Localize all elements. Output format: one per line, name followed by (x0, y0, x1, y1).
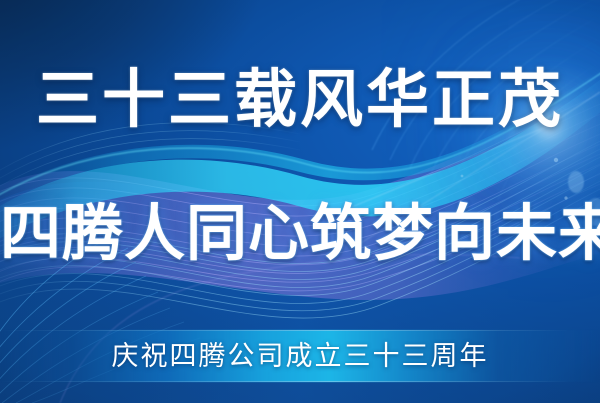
poster-canvas: 三十三载风华正茂 四腾人同心筑梦向未来 庆祝四腾公司成立三十三周年 (0, 0, 600, 403)
headline-line-1: 三十三载风华正茂 (0, 62, 600, 138)
subtitle-text: 庆祝四腾公司成立三十三周年 (0, 338, 600, 374)
headline-line-2: 四腾人同心筑梦向未来 (0, 196, 600, 272)
text-content: 三十三载风华正茂 四腾人同心筑梦向未来 庆祝四腾公司成立三十三周年 (0, 0, 600, 403)
